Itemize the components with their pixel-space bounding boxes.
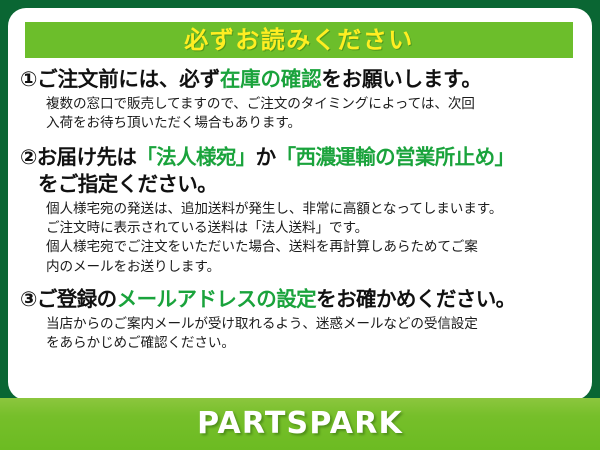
notice-item-2-heading-part-1: お届け先は: [37, 145, 137, 169]
notice-item-2-body-line-4: 内のメールをお送りします。: [46, 258, 582, 277]
notice-item-1-heading-part-1: ご注文前には、必ず: [37, 67, 220, 91]
notice-item-2-heading-highlight-1: 「法人様宛」: [136, 145, 255, 169]
notice-item-1-body-line-2: 入荷をお待ち頂いただく場合もあります。: [46, 114, 582, 133]
notice-item-3-body-line-1: 当店からのご案内メールが受け取れるよう、迷惑メールなどの受信設定: [46, 315, 582, 334]
notice-item-1-number: ①: [20, 67, 37, 91]
notice-item-2-heading-part-3: か: [256, 145, 276, 169]
notice-item-3-heading: ③ご登録のメールアドレスの設定をお確かめください。: [20, 286, 582, 313]
notice-item-2-heading-highlight-2: 「西濃運輸の営業所止め」: [276, 145, 515, 169]
page-title: 必ずお読みください: [184, 28, 414, 52]
brand-footer-band: PARTSPARK: [0, 398, 600, 450]
notice-item-1-body-line-1: 複数の窓口で販売してますので、ご注文のタイミングによっては、次回: [46, 95, 582, 114]
notice-item-3: ③ご登録のメールアドレスの設定をお確かめください。 当店からのご案内メールが受け…: [20, 286, 582, 354]
notice-item-2: ②お届け先は「法人様宛」か「西濃運輸の営業所止め」 をご指定ください。 個人様宅…: [20, 144, 582, 277]
notice-item-1-heading-part-3: をお願いします。: [321, 67, 481, 91]
notice-item-2-body-line-2: ご注文時に表示されている送料は「法人送料」です。: [46, 219, 582, 238]
notice-item-2-body-line-3: 個人様宅宛でご注文をいただいた場合、送料を再計算しあらためてご案: [46, 238, 582, 257]
notice-item-3-body-line-2: をあらかじめご確認ください。: [46, 334, 582, 353]
notice-panel: 必ずお読みください ①ご注文前には、必ず在庫の確認をお願いします。 複数の窓口で…: [8, 8, 592, 400]
notice-item-3-heading-part-3: をお確かめください。: [316, 287, 516, 311]
notice-item-1-heading-highlight: 在庫の確認: [220, 67, 322, 91]
brand-logo-text: PARTSPARK: [197, 409, 403, 439]
notice-item-3-body: 当店からのご案内メールが受け取れるよう、迷惑メールなどの受信設定 をあらかじめご…: [20, 315, 582, 354]
notice-item-3-heading-part-1: ご登録の: [37, 287, 117, 311]
notice-item-2-body: 個人様宅宛の発送は、追加送料が発生し、非常に高額となってしまいます。 ご注文時に…: [20, 200, 582, 277]
notice-item-2-number: ②: [20, 145, 37, 169]
notice-item-1: ①ご注文前には、必ず在庫の確認をお願いします。 複数の窓口で販売してますので、ご…: [20, 66, 582, 134]
notice-item-2-heading-line-2: をご指定ください。: [20, 171, 582, 198]
notice-item-3-heading-highlight: メールアドレスの設定: [117, 287, 317, 311]
notice-item-2-heading: ②お届け先は「法人様宛」か「西濃運輸の営業所止め」: [20, 144, 582, 171]
notice-item-1-body: 複数の窓口で販売してますので、ご注文のタイミングによっては、次回 入荷をお待ち頂…: [20, 95, 582, 134]
notice-content: ①ご注文前には、必ず在庫の確認をお願いします。 複数の窓口で販売してますので、ご…: [8, 66, 592, 362]
notice-item-2-body-line-1: 個人様宅宛の発送は、追加送料が発生し、非常に高額となってしまいます。: [46, 200, 582, 219]
notice-item-1-heading: ①ご注文前には、必ず在庫の確認をお願いします。: [20, 66, 582, 93]
notice-card: 必ずお読みください ①ご注文前には、必ず在庫の確認をお願いします。 複数の窓口で…: [0, 0, 600, 450]
notice-title-bar: 必ずお読みください: [25, 22, 573, 58]
notice-item-3-number: ③: [20, 287, 37, 311]
